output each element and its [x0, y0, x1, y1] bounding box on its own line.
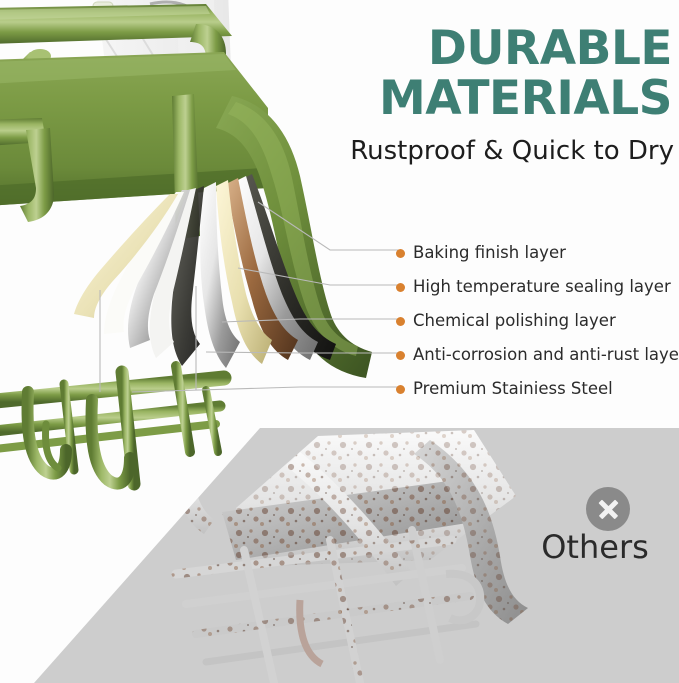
callout-label: Chemical polishing layer	[413, 312, 616, 330]
callout-list: Baking finish layer High temperature sea…	[396, 236, 679, 406]
callout-label: Anti-corrosion and anti-rust layer	[413, 346, 679, 364]
callout-item-3: Chemical polishing layer	[396, 304, 679, 338]
callout-item-1: Baking finish layer	[396, 236, 679, 270]
bullet-dot-icon	[396, 317, 405, 326]
callout-label: High temperature sealing layer	[413, 278, 671, 296]
others-label: Others	[520, 528, 670, 566]
bullet-dot-icon	[396, 249, 405, 258]
callout-item-4: Anti-corrosion and anti-rust layer	[396, 338, 679, 372]
page-subtitle: Rustproof & Quick to Dry	[330, 136, 674, 166]
bullet-dot-icon	[396, 385, 405, 394]
page-title: DURABLE MATERIALS	[352, 24, 672, 124]
callout-label: Baking finish layer	[413, 244, 566, 262]
callout-item-5: Premium Stainiess Steel	[396, 372, 679, 406]
bullet-dot-icon	[396, 351, 405, 360]
cross-circle-icon	[586, 487, 630, 531]
headline-line-1: DURABLE	[352, 24, 672, 74]
callout-label: Premium Stainiess Steel	[413, 380, 613, 398]
headline-line-2: MATERIALS	[352, 74, 672, 124]
callout-item-2: High temperature sealing layer	[396, 270, 679, 304]
bullet-dot-icon	[396, 283, 405, 292]
infographic-canvas: DURABLE MATERIALS Rustproof & Quick to D…	[0, 0, 679, 683]
